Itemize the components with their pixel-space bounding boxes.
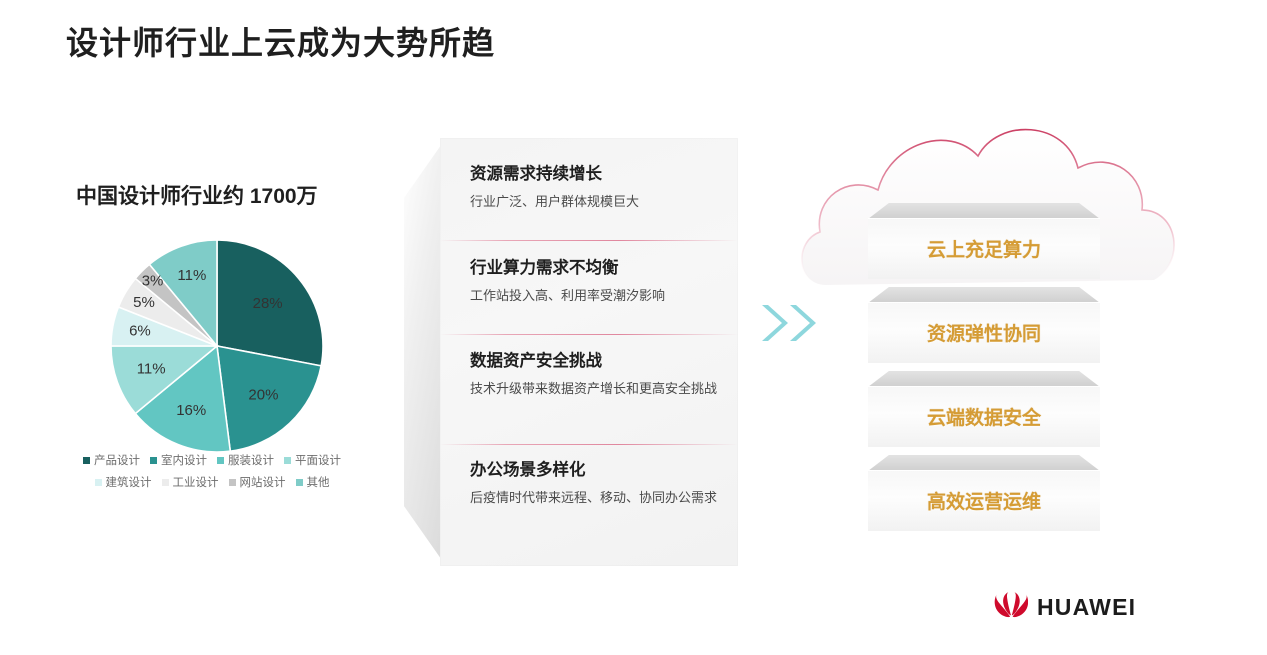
pie-chart: 28%20%16%11%6%5%3%11% [108, 237, 326, 455]
legend-swatch [150, 457, 157, 464]
legend-swatch [217, 457, 224, 464]
legend-swatch [229, 479, 236, 486]
challenge-item: 数据资产安全挑战技术升级带来数据资产增长和更高安全挑战 [470, 351, 718, 399]
legend-label: 建筑设计 [106, 474, 152, 490]
pie-chart-svg: 28%20%16%11%6%5%3%11% [108, 237, 326, 455]
pie-chart-legend: 产品设计室内设计服装设计平面设计建筑设计工业设计网站设计其他 [74, 452, 350, 496]
step-top-face [868, 455, 1100, 471]
pie-slice-label: 6% [129, 322, 151, 339]
step-label: 高效运营运维 [868, 470, 1100, 531]
legend-label: 服装设计 [228, 452, 274, 468]
legend-swatch [296, 479, 303, 486]
challenge-title: 资源需求持续增长 [470, 164, 718, 185]
legend-item: 工业设计 [162, 474, 219, 490]
cloud-benefit-step[interactable]: 云上充足算力 [868, 203, 1100, 279]
challenge-description: 技术升级带来数据资产增长和更高安全挑战 [470, 379, 718, 399]
challenge-title: 数据资产安全挑战 [470, 351, 718, 372]
pie-slice-label: 5% [133, 294, 155, 311]
legend-label: 平面设计 [295, 452, 341, 468]
legend-item: 室内设计 [150, 452, 207, 468]
challenge-description: 后疫情时代带来远程、移动、协同办公需求 [470, 488, 718, 508]
pie-slice-label: 11% [177, 267, 206, 284]
slide-canvas: 设计师行业上云成为大势所趋 中国设计师行业约 1700万 28%20%16%11… [0, 0, 1267, 655]
challenge-divider [440, 334, 738, 335]
pie-slice-label: 28% [253, 295, 283, 312]
legend-swatch [83, 457, 90, 464]
legend-item: 网站设计 [229, 474, 286, 490]
cloud-benefit-step[interactable]: 高效运营运维 [868, 455, 1100, 531]
legend-item: 产品设计 [83, 452, 140, 468]
step-label: 资源弹性协同 [868, 302, 1100, 363]
step-top-face [868, 371, 1100, 387]
pie-slice-label: 11% [137, 361, 166, 378]
legend-item: 其他 [296, 474, 330, 490]
cloud-benefit-step[interactable]: 云端数据安全 [868, 371, 1100, 447]
pie-chart-subtitle: 中国设计师行业约 1700万 [76, 180, 318, 210]
challenge-item: 办公场景多样化后疫情时代带来远程、移动、协同办公需求 [470, 460, 718, 508]
challenge-title: 办公场景多样化 [470, 460, 718, 481]
cloud-benefit-step[interactable]: 资源弹性协同 [868, 287, 1100, 363]
legend-label: 产品设计 [94, 452, 140, 468]
legend-swatch [284, 457, 291, 464]
legend-swatch [95, 479, 102, 486]
legend-swatch [162, 479, 169, 486]
legend-item: 平面设计 [284, 452, 341, 468]
challenge-divider [440, 444, 738, 445]
legend-label: 其他 [307, 474, 330, 490]
pie-chart-section: 中国设计师行业约 1700万 28%20%16%11%6%5%3%11% 产品设… [60, 180, 360, 500]
page-title: 设计师行业上云成为大势所趋 [66, 18, 495, 64]
step-label: 云上充足算力 [868, 218, 1100, 279]
challenge-divider [440, 240, 738, 241]
challenge-item: 行业算力需求不均衡工作站投入高、利用率受潮汐影响 [470, 258, 718, 306]
legend-item: 建筑设计 [95, 474, 152, 490]
step-top-face [868, 203, 1100, 219]
pie-slice-label: 16% [176, 402, 206, 419]
pie-slice-label: 20% [248, 386, 278, 403]
challenge-title: 行业算力需求不均衡 [470, 258, 718, 279]
card-front-face: 资源需求持续增长行业广泛、用户群体规模巨大行业算力需求不均衡工作站投入高、利用率… [440, 138, 738, 566]
challenge-item: 资源需求持续增长行业广泛、用户群体规模巨大 [470, 164, 718, 212]
step-top-face [868, 287, 1100, 303]
challenge-description: 行业广泛、用户群体规模巨大 [470, 192, 718, 212]
legend-item: 服装设计 [217, 452, 274, 468]
industry-challenges-card: 资源需求持续增长行业广泛、用户群体规模巨大行业算力需求不均衡工作站投入高、利用率… [404, 138, 738, 566]
step-label: 云端数据安全 [868, 386, 1100, 447]
challenge-description: 工作站投入高、利用率受潮汐影响 [470, 286, 718, 306]
huawei-flower-icon [994, 592, 1028, 622]
cloud-benefits-section: 云上充足算力资源弹性协同云端数据安全高效运营运维 [790, 110, 1210, 530]
huawei-wordmark: HUAWEI [1037, 594, 1136, 621]
legend-label: 工业设计 [173, 474, 219, 490]
legend-label: 网站设计 [240, 474, 286, 490]
legend-label: 室内设计 [161, 452, 207, 468]
pie-slice-label: 3% [142, 273, 164, 290]
huawei-logo: HUAWEI [994, 592, 1136, 622]
